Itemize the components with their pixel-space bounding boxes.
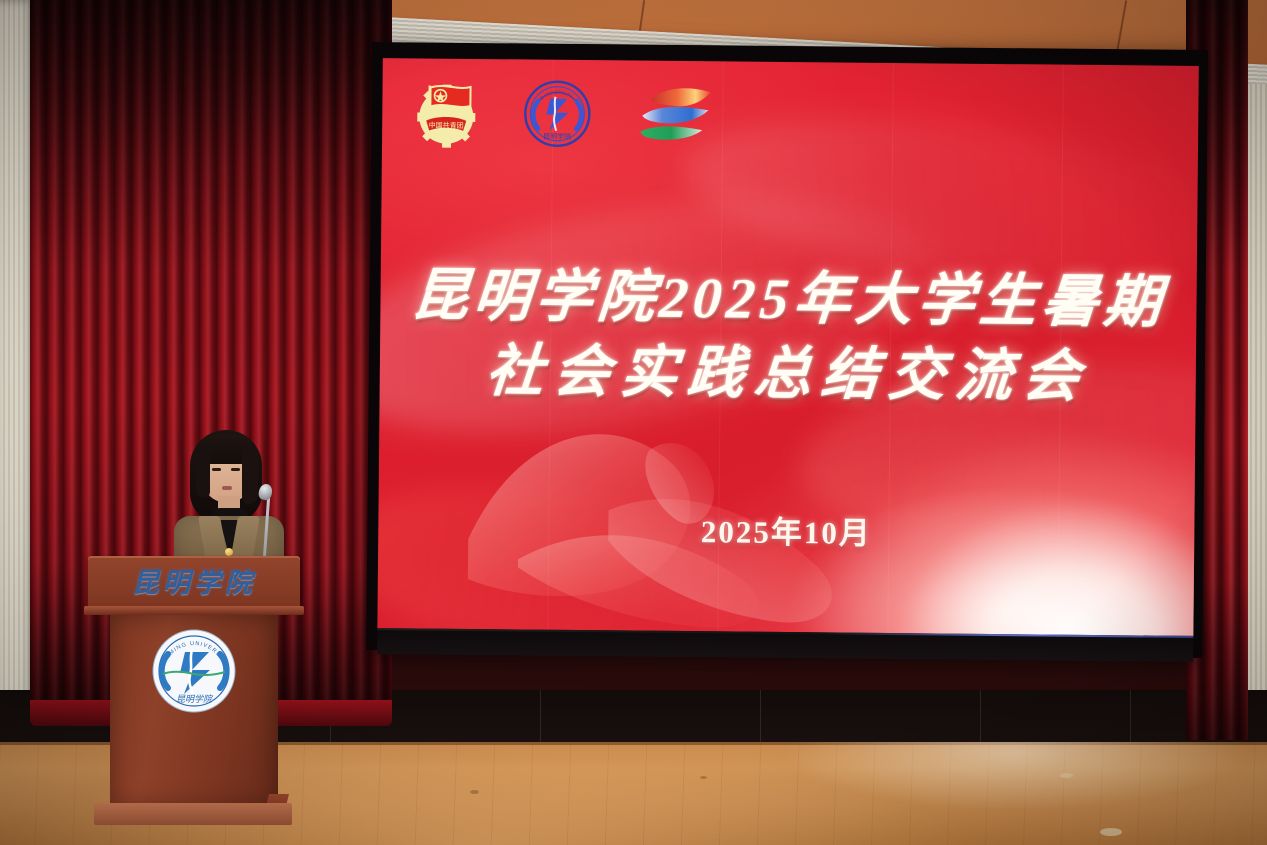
podium-university-seal-icon: KUNMING UNIVERSITY 昆明学院: [151, 628, 237, 714]
speaker-eye-left: [212, 468, 221, 471]
led-screen: 中国共青团 KUNMING UNIVERSITY: [377, 58, 1198, 636]
curtain-shadow-top: [30, 0, 392, 270]
screen-title-block: 昆明学院2025年大学生暑期 社会实践总结交流会: [379, 258, 1196, 416]
svg-text:中国共青团: 中国共青团: [429, 121, 464, 130]
screen-emblem-row: 中国共青团 KUNMING UNIVERSITY: [410, 76, 717, 156]
speaker-hair-side-right: [242, 446, 258, 504]
kunming-university-seal-icon: KUNMING UNIVERSITY 昆明学院: [522, 78, 593, 154]
podium-base: [94, 803, 292, 825]
podium-name-plate: 昆明学院: [88, 561, 300, 600]
speaker-mouth: [222, 486, 232, 490]
speaker-eye-right: [231, 468, 240, 471]
svg-text:昆明学院: 昆明学院: [176, 694, 214, 704]
screen-title-line-2: 社会实践总结交流会: [377, 333, 1198, 416]
speaker-person: [168, 428, 290, 568]
screen-date: 2025年10月: [378, 503, 1194, 556]
stage-event-photo: 中国共青团 KUNMING UNIVERSITY: [0, 0, 1267, 845]
svg-text:昆明学院: 昆明学院: [543, 132, 571, 141]
tricolor-ribbon-emblem-icon: [632, 84, 717, 152]
podium-lip: [84, 606, 304, 615]
led-screen-housing: 中国共青团 KUNMING UNIVERSITY: [366, 42, 1208, 658]
communist-youth-league-badge-icon: 中国共青团: [410, 76, 483, 154]
screen-title-line-1: 昆明学院2025年大学生暑期: [378, 258, 1199, 341]
podium: 昆明学院 KUNMING UNIVERSITY 昆明学院: [88, 556, 300, 826]
speaker-hair-side-left: [196, 446, 210, 498]
speaker-lapel-pin: [225, 548, 233, 556]
